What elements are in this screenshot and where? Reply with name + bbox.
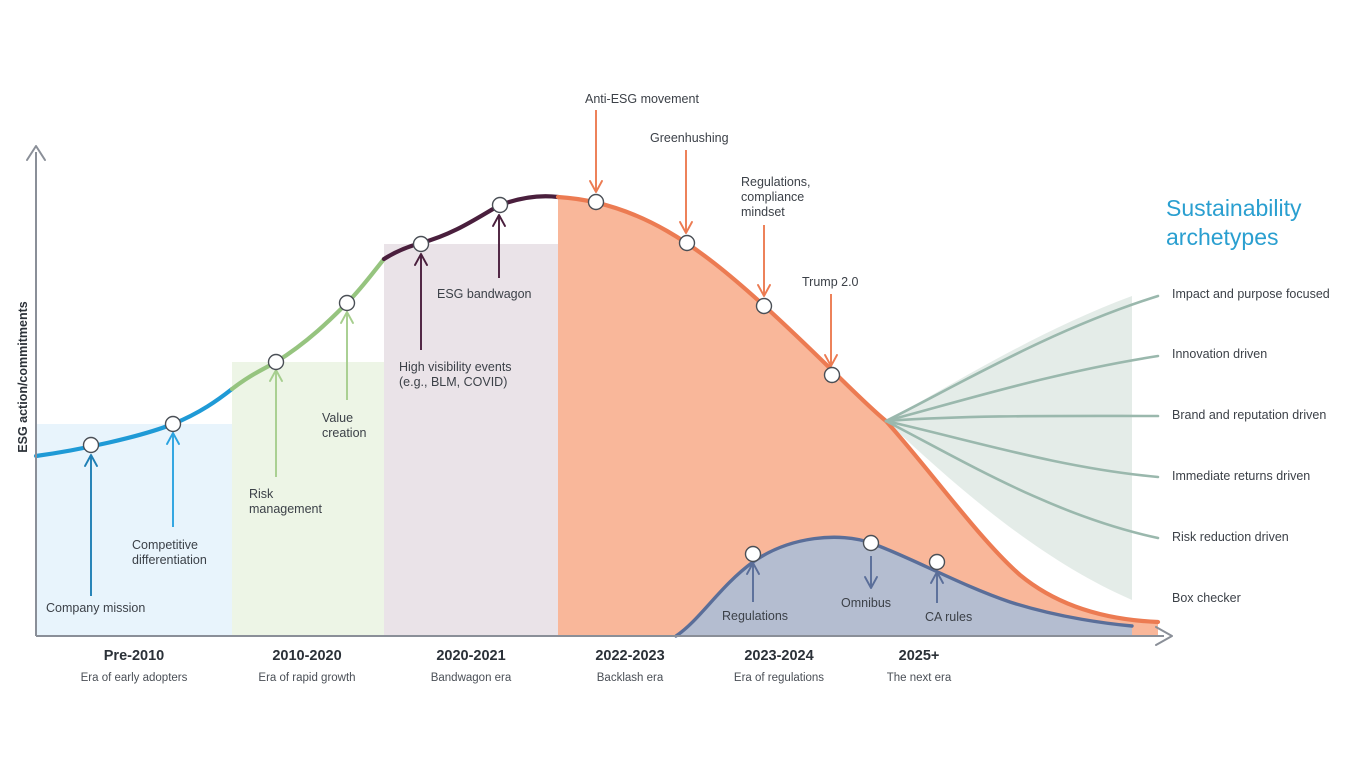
data-point-m-competitive-diff[interactable]	[166, 417, 181, 432]
data-point-m-omnibus[interactable]	[864, 536, 879, 551]
archetype-label-risk-reduction-driven: Risk reduction driven	[1172, 530, 1289, 544]
y-axis-label: ESG action/commitments	[16, 262, 30, 492]
archetypes-panel-title: Sustainability archetypes	[1166, 194, 1356, 252]
annotation-label-high-visibility: High visibility events (e.g., BLM, COVID…	[399, 360, 512, 390]
annotation-label-regulations: Regulations	[722, 609, 788, 624]
archetypes-title-line-2: archetypes	[1166, 223, 1356, 252]
data-point-m-greenhushing[interactable]	[680, 236, 695, 251]
annotation-arrow-regulations-mindset	[758, 225, 770, 296]
annotation-arrow-anti-esg-movement	[590, 110, 602, 192]
annotation-label-anti-esg-movement: Anti-ESG movement	[585, 92, 699, 107]
archetype-label-box-checker: Box checker	[1172, 591, 1241, 605]
annotation-label-competitive-diff: Competitive differentiation	[132, 538, 207, 568]
data-point-m-ca-rules[interactable]	[930, 555, 945, 570]
annotation-label-omnibus: Omnibus	[841, 596, 891, 611]
era-band-2020-2021	[384, 244, 558, 636]
annotation-arrow-trump-20	[825, 294, 837, 366]
data-point-m-high-visibility[interactable]	[414, 237, 429, 252]
era-subtitle-2025-: The next era	[809, 672, 1029, 684]
chart-canvas: ESG action/commitments Company missionCo…	[0, 0, 1360, 765]
archetypes-title-line-1: Sustainability	[1166, 194, 1356, 223]
annotation-label-regulations-mindset: Regulations, compliance mindset	[741, 175, 811, 220]
annotation-label-esg-bandwagon: ESG bandwagon	[437, 287, 532, 302]
annotation-arrow-greenhushing	[680, 150, 692, 233]
data-point-m-regulations-mind[interactable]	[757, 299, 772, 314]
data-point-m-anti-esg[interactable]	[589, 195, 604, 210]
archetype-label-immediate-returns-driven: Immediate returns driven	[1172, 469, 1310, 483]
data-point-m-company-mission[interactable]	[84, 438, 99, 453]
archetype-label-brand-and-reputation-driven: Brand and reputation driven	[1172, 408, 1326, 422]
annotation-label-trump-20: Trump 2.0	[802, 275, 859, 290]
data-point-m-risk-management[interactable]	[269, 355, 284, 370]
data-point-m-value-creation[interactable]	[340, 296, 355, 311]
data-point-m-regulations-low[interactable]	[746, 547, 761, 562]
archetype-label-impact-and-purpose-focused: Impact and purpose focused	[1172, 287, 1330, 301]
annotation-label-greenhushing: Greenhushing	[650, 131, 729, 146]
annotation-label-company-mission: Company mission	[46, 601, 145, 616]
data-point-m-esg-bandwagon[interactable]	[493, 198, 508, 213]
annotation-label-value-creation: Value creation	[322, 411, 366, 441]
era-name-2025-: 2025+	[809, 648, 1029, 664]
archetype-label-innovation-driven: Innovation driven	[1172, 347, 1267, 361]
data-point-m-trump20[interactable]	[825, 368, 840, 383]
annotation-label-risk-management: Risk management	[249, 487, 322, 517]
annotation-label-ca-rules: CA rules	[925, 610, 972, 625]
